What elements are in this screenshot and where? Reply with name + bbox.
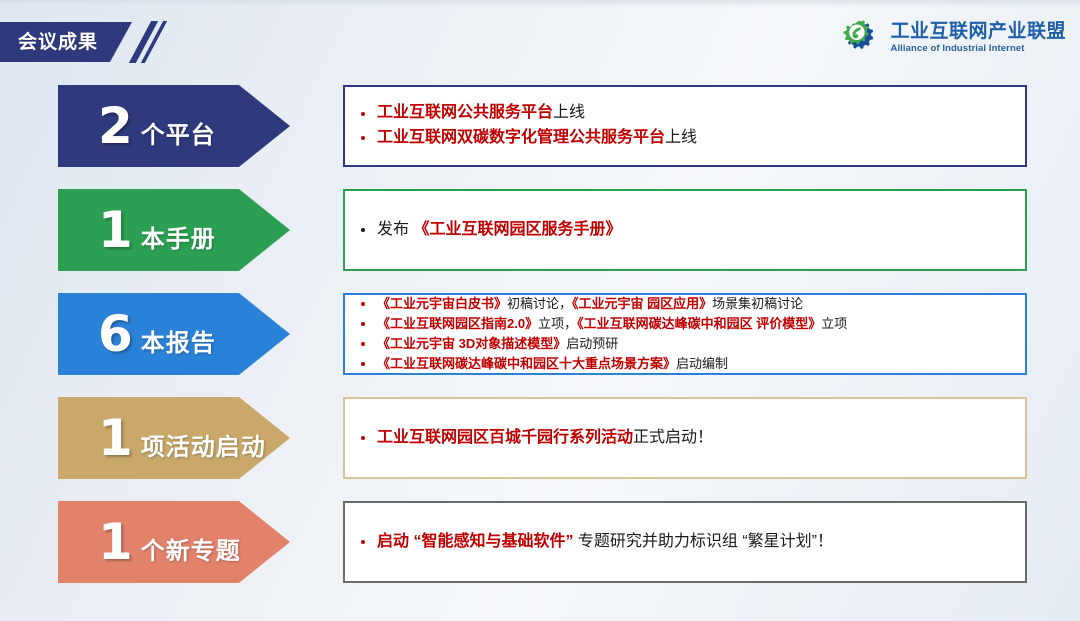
- content-box: 《工业元宇宙白皮书》初稿讨论，《工业元宇宙 园区应用》场景集初稿讨论《工业互联网…: [343, 293, 1027, 375]
- bullet-item: 工业互联网双碳数字化管理公共服务平台上线: [355, 126, 1025, 151]
- arrow-content: 1项活动启动: [58, 413, 266, 463]
- header-banner: 会议成果: [0, 22, 132, 62]
- bullet-item: 发布 《工业互联网园区服务手册》: [355, 218, 1025, 243]
- arrow-label: 本报告: [141, 332, 216, 356]
- bullet-item: 工业互联网公共服务平台上线: [355, 101, 1025, 126]
- slide-canvas: 会议成果 工业互联网产业联盟 Alliance of Industrial In…: [0, 0, 1080, 621]
- text-segment: 专题研究并助力标识组 “繁星计划”！: [573, 533, 833, 550]
- text-segment: 《工业互联网碳达峰碳中和园区十大重点场景方案》: [377, 356, 676, 371]
- text-segment: 工业互联网园区百城千园行系列活动: [377, 429, 633, 446]
- arrow-label: 项活动启动: [141, 436, 266, 460]
- results-rows: 2个平台工业互联网公共服务平台上线工业互联网双碳数字化管理公共服务平台上线1本手…: [0, 85, 1080, 583]
- text-segment: 《工业互联网碳达峰碳中和园区 评价模型》: [577, 316, 821, 331]
- org-logo: 工业互联网产业联盟 Alliance of Industrial Interne…: [841, 17, 1066, 59]
- text-segment: 发布: [377, 221, 413, 238]
- bullet-list: 工业互联网园区百城千园行系列活动正式启动！: [355, 426, 1025, 451]
- arrow-label: 个新专题: [141, 540, 241, 564]
- result-row: 6本报告《工业元宇宙白皮书》初稿讨论，《工业元宇宙 园区应用》场景集初稿讨论《工…: [0, 293, 1080, 375]
- text-segment: 场景集初稿讨论: [712, 296, 803, 311]
- arrow-content: 1个新专题: [58, 517, 241, 567]
- bullet-list: 《工业元宇宙白皮书》初稿讨论，《工业元宇宙 园区应用》场景集初稿讨论《工业互联网…: [355, 294, 1025, 375]
- text-segment: 启动预研: [566, 336, 618, 351]
- arrow-callout: 2个平台: [58, 85, 290, 167]
- bullet-item: 《工业互联网碳达峰碳中和园区十大重点场景方案》启动编制: [355, 354, 1025, 374]
- content-box: 工业互联网园区百城千园行系列活动正式启动！: [343, 397, 1027, 479]
- text-segment: 《工业元宇宙 园区应用》: [572, 296, 712, 311]
- result-row: 1个新专题启动 “智能感知与基础软件” 专题研究并助力标识组 “繁星计划”！: [0, 501, 1080, 583]
- text-segment: 上线: [665, 129, 697, 146]
- text-segment: 工业互联网公共服务平台: [377, 104, 553, 121]
- text-segment: 启动编制: [676, 356, 728, 371]
- text-segment: 《工业元宇宙 3D对象描述模型》: [377, 336, 566, 351]
- arrow-number: 1: [98, 413, 133, 463]
- arrow-callout: 6本报告: [58, 293, 290, 375]
- logo-name-en: Alliance of Industrial Internet: [890, 44, 1066, 54]
- text-segment: 《工业互联网园区服务手册》: [413, 221, 621, 238]
- banner-shape: 会议成果: [0, 22, 132, 62]
- text-segment: 工业互联网双碳数字化管理公共服务平台: [377, 129, 665, 146]
- text-segment: 立项: [821, 316, 847, 331]
- bullet-item: 《工业元宇宙 3D对象描述模型》启动预研: [355, 334, 1025, 354]
- bullet-item: 启动 “智能感知与基础软件” 专题研究并助力标识组 “繁星计划”！: [355, 530, 1025, 555]
- logo-name-cn: 工业互联网产业联盟: [890, 22, 1066, 41]
- content-box: 工业互联网公共服务平台上线工业互联网双碳数字化管理公共服务平台上线: [343, 85, 1027, 167]
- result-row: 1本手册发布 《工业互联网园区服务手册》: [0, 189, 1080, 271]
- text-segment: 《工业互联网园区指南2.0》: [377, 316, 538, 331]
- arrow-content: 6本报告: [58, 309, 216, 359]
- arrow-label: 本手册: [141, 228, 216, 252]
- arrow-number: 1: [98, 205, 133, 255]
- result-row: 2个平台工业互联网公共服务平台上线工业互联网双碳数字化管理公共服务平台上线: [0, 85, 1080, 167]
- page-title: 会议成果: [18, 33, 98, 52]
- content-box: 启动 “智能感知与基础软件” 专题研究并助力标识组 “繁星计划”！: [343, 501, 1027, 583]
- bullet-list: 发布 《工业互联网园区服务手册》: [355, 218, 1025, 243]
- bullet-item: 《工业元宇宙白皮书》初稿讨论，《工业元宇宙 园区应用》场景集初稿讨论: [355, 294, 1025, 314]
- text-segment: 《工业元宇宙白皮书》: [377, 296, 507, 311]
- arrow-callout: 1项活动启动: [58, 397, 290, 479]
- arrow-number: 1: [98, 517, 133, 567]
- arrow-number: 6: [98, 309, 133, 359]
- text-segment: 立项，: [538, 316, 577, 331]
- arrow-callout: 1本手册: [58, 189, 290, 271]
- bullet-item: 《工业互联网园区指南2.0》立项，《工业互联网碳达峰碳中和园区 评价模型》立项: [355, 314, 1025, 334]
- text-segment: 正式启动！: [633, 429, 713, 446]
- arrow-content: 1本手册: [58, 205, 216, 255]
- text-segment: 启动 “智能感知与基础软件”: [377, 533, 573, 550]
- arrow-label: 个平台: [141, 124, 216, 148]
- logo-text-block: 工业互联网产业联盟 Alliance of Industrial Interne…: [890, 22, 1066, 54]
- arrow-callout: 1个新专题: [58, 501, 290, 583]
- bullet-item: 工业互联网园区百城千园行系列活动正式启动！: [355, 426, 1025, 451]
- bullet-list: 启动 “智能感知与基础软件” 专题研究并助力标识组 “繁星计划”！: [355, 530, 1025, 555]
- text-segment: 上线: [553, 104, 585, 121]
- content-box: 发布 《工业互联网园区服务手册》: [343, 189, 1027, 271]
- bullet-list: 工业互联网公共服务平台上线工业互联网双碳数字化管理公共服务平台上线: [355, 101, 1025, 151]
- arrow-content: 2个平台: [58, 101, 216, 151]
- gear-leaf-logo-icon: [841, 17, 883, 59]
- arrow-number: 2: [98, 101, 133, 151]
- text-segment: 初稿讨论，: [507, 296, 572, 311]
- result-row: 1项活动启动工业互联网园区百城千园行系列活动正式启动！: [0, 397, 1080, 479]
- banner-slash-decoration: [133, 22, 167, 62]
